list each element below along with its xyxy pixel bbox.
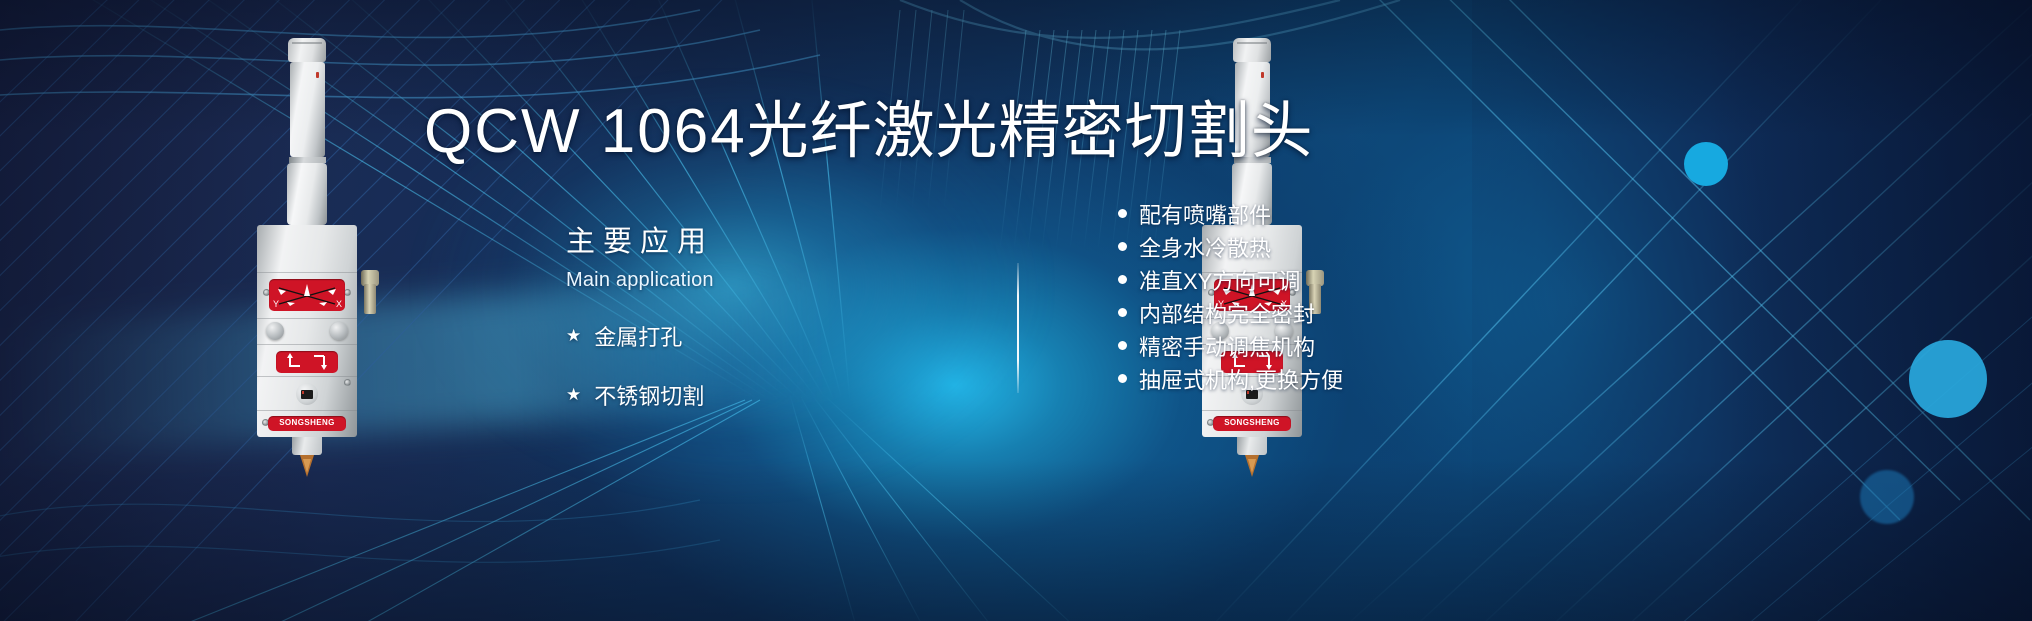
feature-label: 准直XY方向可调 [1139, 264, 1300, 296]
direction-arrows-label [276, 351, 338, 373]
bullet-icon [1118, 242, 1127, 251]
svg-text:Y: Y [273, 299, 279, 309]
head-indicator-dot [316, 72, 319, 78]
list-item: ★ 不锈钢切割 [566, 379, 796, 411]
head-nozzle-housing [1237, 437, 1267, 455]
list-item: 内部结构完全密封 [1118, 296, 1343, 329]
banner-title-latin: QCW 1064 [424, 97, 747, 166]
xy-arrows-icon: Y X [269, 279, 345, 311]
list-item: 抽屉式机构,更换方便 [1118, 362, 1343, 395]
head-nozzle-tip-inner [1248, 459, 1256, 473]
feature-label: 全身水冷散热 [1139, 231, 1271, 263]
feature-list: 配有喷嘴部件 全身水冷散热 准直XY方向可调 内部结构完全密封 精密手动调焦机构… [1118, 197, 1343, 395]
head-segment-arrows [257, 345, 357, 377]
screw-icon [344, 289, 351, 296]
head-segment-port [257, 377, 357, 411]
vertical-divider [1017, 263, 1019, 393]
application-subheading: Main application [566, 269, 796, 292]
bullet-icon [1118, 374, 1127, 383]
corner-arrows-icon [276, 351, 338, 373]
list-item: 精密手动调焦机构 [1118, 329, 1343, 362]
head-upper-tube [290, 62, 325, 157]
adjustment-knob [330, 322, 348, 340]
feature-label: 精密手动调焦机构 [1139, 330, 1315, 362]
head-segment-knobs [257, 319, 357, 345]
application-list: ★ 金属打孔 ★ 不锈钢切割 [566, 320, 796, 411]
product-banner: Y X [0, 0, 2032, 621]
head-nozzle-tip-inner [303, 459, 311, 473]
adjustment-knob [266, 322, 284, 340]
list-item: 配有喷嘴部件 [1118, 197, 1343, 230]
head-cap [288, 38, 326, 62]
head-segment-xy: Y X [257, 273, 357, 319]
xy-alignment-label: Y X [269, 279, 345, 311]
decorative-dot [1909, 340, 1987, 418]
bullet-icon [1118, 308, 1127, 317]
feature-label: 抽屉式机构,更换方便 [1139, 363, 1343, 395]
screw-icon [344, 379, 351, 386]
head-nozzle-housing [292, 437, 322, 455]
product-image-laser-head-left: Y X [247, 38, 367, 473]
application-heading: 主要应用 [566, 225, 796, 260]
application-item-label: 金属打孔 [594, 320, 682, 352]
list-item: 全身水冷散热 [1118, 230, 1343, 263]
brand-label-text: SONGSHENG [1224, 419, 1280, 427]
feature-label: 内部结构完全密封 [1139, 297, 1315, 329]
star-icon: ★ [566, 327, 581, 344]
brand-label-text: SONGSHENG [279, 419, 335, 427]
svg-text:X: X [336, 299, 342, 309]
connector-port [296, 383, 318, 405]
banner-title-cjk: 光纤激光精密切割头 [747, 97, 1314, 166]
head-lower-tube [287, 163, 327, 225]
brand-label: SONGSHENG [1213, 416, 1291, 431]
head-body: Y X [257, 225, 357, 437]
bullet-icon [1118, 341, 1127, 350]
application-item-label: 不锈钢切割 [594, 379, 704, 411]
feature-label: 配有喷嘴部件 [1139, 198, 1271, 230]
head-cap [1233, 38, 1271, 62]
head-indicator-dot [1261, 72, 1264, 78]
hose-fitting [357, 270, 383, 316]
bullet-icon [1118, 275, 1127, 284]
banner-title: QCW 1064光纤激光精密切割头 [424, 99, 1314, 165]
star-icon: ★ [566, 386, 581, 403]
bullet-icon [1118, 209, 1127, 218]
head-segment-brand: SONGSHENG [1202, 411, 1302, 435]
head-segment-brand: SONGSHENG [257, 411, 357, 435]
fitting-barb [364, 284, 376, 314]
decorative-dot [1684, 142, 1728, 186]
application-block: 主要应用 Main application ★ 金属打孔 ★ 不锈钢切割 [566, 225, 796, 438]
list-item: 准直XY方向可调 [1118, 263, 1343, 296]
list-item: ★ 金属打孔 [566, 320, 796, 352]
head-segment-top [257, 229, 357, 273]
brand-label: SONGSHENG [268, 416, 346, 431]
decorative-dot [1860, 470, 1914, 524]
